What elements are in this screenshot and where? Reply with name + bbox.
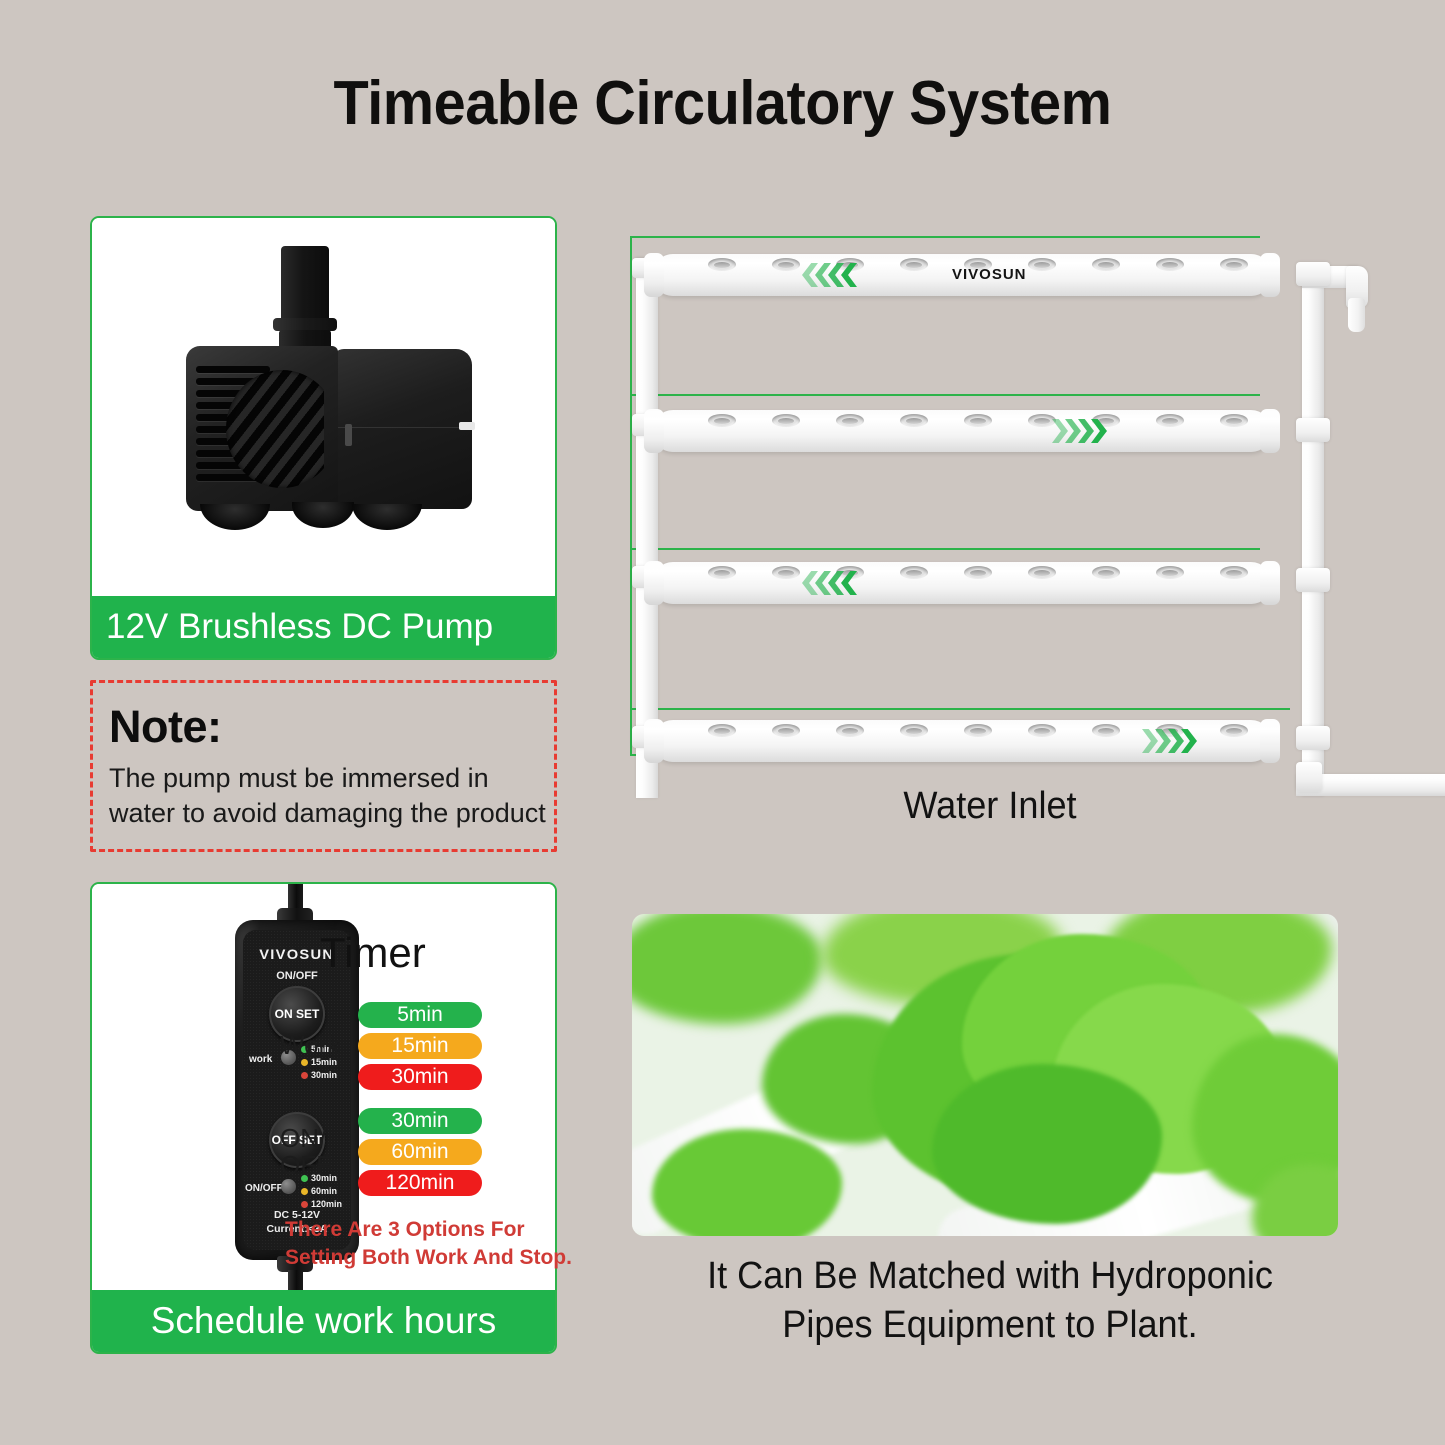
- pump-impeller-cover: [226, 370, 324, 488]
- pump-suction-cup: [292, 502, 354, 528]
- pipe-outlet-spout: [1348, 298, 1365, 332]
- flow-arrow-left: [802, 263, 854, 287]
- plant-hole: [708, 258, 736, 271]
- pipe-joint: [1296, 418, 1330, 442]
- page-title: Timeable Circulatory System: [51, 68, 1395, 139]
- note-body-line-2: water to avoid damaging the product: [109, 796, 554, 831]
- pump-intake-grille: [196, 362, 324, 494]
- timer-badge: 120min: [358, 1170, 482, 1196]
- pipe-joint: [1296, 262, 1330, 286]
- plant-hole: [708, 724, 736, 737]
- pipe-end-cap: [1260, 719, 1280, 763]
- pipe-end-cap: [1260, 253, 1280, 297]
- timer-group-label: Work: [280, 1032, 358, 1059]
- plant-hole: [900, 258, 928, 271]
- plant-hole: [1220, 566, 1248, 579]
- timer-badge: 5min: [358, 1002, 482, 1028]
- note-body: The pump must be immersed in water to av…: [109, 761, 554, 830]
- plant-hole: [708, 566, 736, 579]
- plant-hole: [836, 414, 864, 427]
- timer-group-work: Work 5min 15min 30min: [280, 1002, 482, 1090]
- flow-arrow-right: [1052, 419, 1104, 443]
- pipe-joint: [1296, 726, 1330, 750]
- pump-cover-clip: [459, 422, 475, 430]
- timer-card: VIVOSUN ON/OFF ON SET work 5min 15min 30…: [90, 882, 557, 1354]
- pipe-end-cap: [644, 719, 664, 763]
- pump-suction-cup: [200, 504, 270, 530]
- plant-hole: [900, 724, 928, 737]
- pipe-right-riser: [1302, 266, 1324, 796]
- pipe-end-cap: [1260, 409, 1280, 453]
- timer-badge: 15min: [358, 1033, 482, 1059]
- water-inlet-label: Water Inlet: [648, 785, 1332, 828]
- pump-product-photo: [92, 218, 555, 600]
- photo-leaf: [932, 1064, 1162, 1224]
- flow-path-segment: [630, 394, 1260, 396]
- pipe-left-riser: [636, 258, 658, 798]
- pipe-row-2: [652, 410, 1272, 452]
- timer-badge: 30min: [358, 1108, 482, 1134]
- timer-badge-list: 30min 60min 120min: [358, 1108, 482, 1196]
- flow-arrow-left: [802, 571, 854, 595]
- plant-hole: [964, 566, 992, 579]
- plant-hole: [1092, 258, 1120, 271]
- pump-card: 12V Brushless DC Pump: [90, 216, 557, 660]
- plant-hole: [772, 724, 800, 737]
- flow-path-segment: [630, 708, 1290, 710]
- plant-hole: [900, 566, 928, 579]
- timer-badge-list: 5min 15min 30min: [358, 1002, 482, 1090]
- pipe-end-cap: [644, 409, 664, 453]
- plant-hole: [1220, 258, 1248, 271]
- vivosun-logo-pipe: VIVOSUN: [952, 266, 1027, 283]
- pump-suction-cup: [352, 504, 422, 530]
- timer-options-note-line-2: Setting Both Work And Stop.: [285, 1244, 572, 1272]
- plant-hole: [1156, 258, 1184, 271]
- pump-switch: [345, 424, 352, 446]
- pipe-joint: [1296, 568, 1330, 592]
- plant-hole: [900, 414, 928, 427]
- pump-outlet-nozzle: [281, 246, 329, 322]
- timer-group-label: ON/ OFF: [280, 1125, 358, 1180]
- pipe-row-3: [652, 562, 1272, 604]
- timer-badge: 30min: [358, 1064, 482, 1090]
- timer-card-label: Schedule work hours: [92, 1290, 555, 1352]
- hydroponic-lettuce-photo: [632, 914, 1338, 1236]
- photo-leaf: [632, 914, 822, 1024]
- bottom-caption: It Can Be Matched with Hydroponic Pipes …: [639, 1252, 1342, 1351]
- plant-hole: [1028, 566, 1056, 579]
- plant-hole: [964, 414, 992, 427]
- note-title: Note:: [109, 701, 554, 753]
- plant-hole: [1156, 414, 1184, 427]
- plant-hole: [772, 414, 800, 427]
- led-dot-red: [301, 1201, 308, 1208]
- plant-hole: [836, 724, 864, 737]
- plant-hole: [1092, 566, 1120, 579]
- plant-hole: [772, 258, 800, 271]
- timer-options-note-line-1: There Are 3 Options For: [285, 1216, 572, 1244]
- plant-hole: [1156, 566, 1184, 579]
- pump-motor-housing: [332, 349, 472, 509]
- pipe-end-cap: [1260, 561, 1280, 605]
- pipe-end-cap: [644, 561, 664, 605]
- flow-path-segment: [630, 548, 1260, 550]
- pipe-row-1: VIVOSUN: [652, 254, 1272, 296]
- controller-faceplate: VIVOSUN ON/OFF ON SET work 5min 15min 30…: [243, 930, 351, 1250]
- controller-work-label: work: [249, 1054, 272, 1065]
- note-body-line-1: The pump must be immersed in: [109, 761, 554, 796]
- pump-intake-housing: [186, 346, 338, 511]
- plant-hole: [1028, 724, 1056, 737]
- plant-hole: [772, 566, 800, 579]
- timer-group-onoff: ON/ OFF 30min 60min 120min: [280, 1108, 482, 1196]
- plant-hole: [1092, 724, 1120, 737]
- flow-path-segment: [630, 236, 1260, 238]
- controller-onoff-bottom-label: ON/OFF: [245, 1183, 283, 1194]
- hydroponic-pipe-diagram: VIVOSUN: [630, 236, 1445, 836]
- plant-hole: [1220, 724, 1248, 737]
- pipe-end-cap: [644, 253, 664, 297]
- pipe-row-4: [652, 720, 1272, 762]
- plant-hole: [1220, 414, 1248, 427]
- bottom-caption-line-1: It Can Be Matched with Hydroponic: [639, 1252, 1342, 1301]
- flow-arrow-right: [1142, 729, 1194, 753]
- timer-options-note: There Are 3 Options For Setting Both Wor…: [285, 1216, 572, 1271]
- plant-hole: [1028, 258, 1056, 271]
- plant-hole: [708, 414, 736, 427]
- pump-card-label: 12V Brushless DC Pump: [92, 596, 555, 658]
- plant-hole: [964, 724, 992, 737]
- bottom-caption-line-2: Pipes Equipment to Plant.: [639, 1301, 1342, 1350]
- timer-heading: Timer: [320, 929, 426, 977]
- timer-badge: 60min: [358, 1139, 482, 1165]
- note-box: Note: The pump must be immersed in water…: [90, 680, 557, 852]
